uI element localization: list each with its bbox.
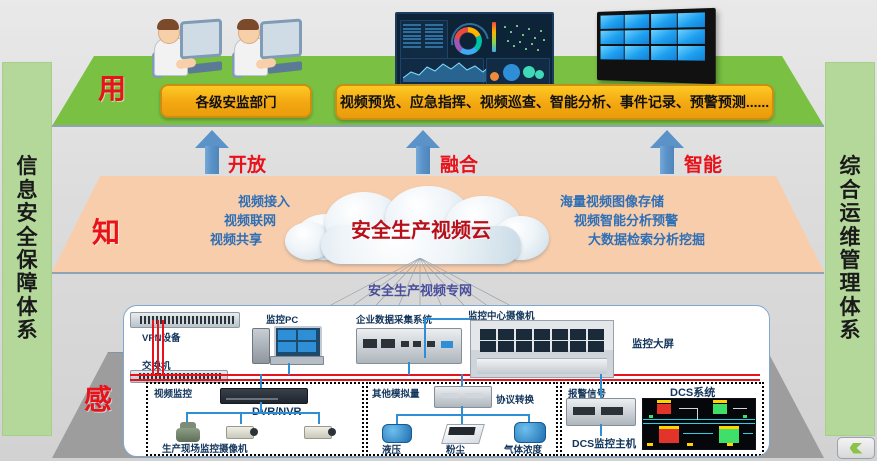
operator-workstation-icon bbox=[152, 16, 224, 78]
pc-tower-icon bbox=[252, 328, 270, 364]
dcs-host-label: DCS监控主机 bbox=[572, 436, 636, 451]
operator-workstation-icon bbox=[232, 16, 304, 78]
rail-char: 合 bbox=[840, 180, 861, 201]
link-line bbox=[260, 402, 262, 412]
rail-char: 信 bbox=[17, 156, 38, 177]
video-wall-image bbox=[592, 10, 714, 82]
uplink-line bbox=[152, 320, 154, 376]
box-camera-icon bbox=[226, 424, 258, 440]
link-line bbox=[240, 412, 242, 424]
link-line bbox=[461, 374, 463, 386]
arrow-label-open: 开放 bbox=[228, 150, 266, 177]
cloud-title: 安全生产视频云 bbox=[285, 214, 557, 243]
protocol-converter-icon bbox=[434, 386, 492, 408]
box-camera-icon bbox=[304, 424, 336, 440]
hydraulic-sensor-icon bbox=[382, 424, 412, 443]
capability-item: 视频智能分析预警 bbox=[560, 212, 770, 231]
left-rail-information-security: 信 息 安 全 保 障 体 系 bbox=[2, 62, 52, 436]
rail-char: 理 bbox=[840, 273, 861, 294]
link-line bbox=[186, 412, 320, 414]
up-arrow-icon bbox=[650, 130, 684, 174]
enterprise-collect-label: 企业数据采集系统 bbox=[356, 312, 432, 326]
control-room-screen-grid bbox=[480, 329, 605, 353]
layer-tag-knowledge: 知 bbox=[92, 211, 120, 251]
cloud-shape: 安全生产视频云 bbox=[285, 186, 557, 266]
dust-label: 粉尘 bbox=[446, 442, 465, 456]
diagram-canvas: 信 息 安 全 保 障 体 系 综 合 运 维 管 理 体 系 用 知 感 bbox=[0, 0, 877, 461]
video-wall-screen-grid bbox=[600, 12, 704, 60]
arrow-shaft bbox=[416, 146, 430, 174]
link-line bbox=[396, 414, 530, 416]
dcs-host-icon bbox=[566, 398, 636, 426]
arrow-label-fusion: 融合 bbox=[440, 150, 478, 177]
dust-sensor-icon bbox=[441, 424, 485, 444]
monitor-pc-label: 监控PC bbox=[266, 312, 298, 326]
rail-char: 综 bbox=[840, 156, 861, 177]
rail-char: 保 bbox=[17, 250, 38, 271]
ptz-dome bbox=[176, 428, 200, 442]
link-line bbox=[424, 318, 426, 358]
analytics-dashboard-image bbox=[395, 12, 554, 88]
gas-label: 气体浓度 bbox=[504, 442, 542, 456]
dashboard-heat-legend bbox=[492, 22, 496, 52]
application-layer-divider bbox=[52, 125, 824, 127]
link-line bbox=[408, 362, 410, 375]
arrow-shaft bbox=[205, 146, 219, 174]
site-cameras-label: 生产现场监控摄像机 bbox=[162, 441, 248, 455]
dashboard-table-rows bbox=[425, 24, 443, 49]
capability-item: 视频共享 bbox=[120, 231, 290, 250]
rail-char: 系 bbox=[840, 320, 861, 341]
dvr-nvr-icon bbox=[220, 388, 308, 404]
camera-lens bbox=[328, 428, 336, 436]
dashboard-donut-chart bbox=[454, 27, 482, 55]
uplink-line bbox=[157, 320, 159, 376]
desktop-monitor-icon bbox=[180, 19, 222, 60]
dcs-scada-screen bbox=[642, 398, 756, 450]
uplink-line bbox=[162, 320, 164, 376]
gas-sensor-icon bbox=[514, 422, 546, 443]
sensing-devices-panel: VPN设备 交换机 监控PC 企业数据采集系统 bbox=[123, 305, 770, 457]
green-play-glyph bbox=[850, 443, 863, 454]
link-line bbox=[600, 424, 602, 436]
cloud-capabilities-right: 海量视频图像存储 视频智能分析预警 大数据检索分析挖掘 bbox=[560, 193, 770, 250]
right-rail-operations-management: 综 合 运 维 管 理 体 系 bbox=[825, 62, 875, 436]
video-wall-frame bbox=[597, 8, 716, 84]
capability-item: 海量视频图像存储 bbox=[560, 193, 770, 212]
control-room-image bbox=[470, 320, 614, 378]
dept-box[interactable]: 各级安监部门 bbox=[160, 84, 312, 118]
arrow-label-intelligent: 智能 bbox=[684, 150, 722, 177]
camera-lens bbox=[250, 428, 258, 436]
data-collection-server-icon bbox=[356, 328, 462, 364]
ptz-camera-icon bbox=[176, 422, 200, 442]
hydraulic-label: 液压 bbox=[382, 442, 401, 456]
rail-char: 全 bbox=[17, 227, 38, 248]
bubble-node bbox=[503, 64, 520, 81]
vpn-device-icon bbox=[130, 312, 240, 328]
layer-tag-application: 用 bbox=[98, 67, 126, 107]
rail-char: 体 bbox=[17, 297, 38, 318]
capability-item: 视频接入 bbox=[120, 193, 290, 212]
rail-char: 体 bbox=[840, 297, 861, 318]
private-network-label: 安全生产视频专网 bbox=[300, 280, 540, 299]
link-line bbox=[260, 374, 262, 388]
arrow-shaft bbox=[660, 146, 674, 174]
bubble-node bbox=[535, 70, 544, 79]
media-player-icon[interactable] bbox=[837, 437, 875, 459]
red-bus-line bbox=[130, 379, 760, 381]
rail-char: 息 bbox=[17, 180, 38, 201]
up-arrow-icon bbox=[406, 130, 440, 174]
cloud-capabilities-left: 视频接入 视频联网 视频共享 bbox=[120, 193, 290, 250]
protocol-convert-label: 协议转换 bbox=[496, 392, 534, 406]
control-room-desk bbox=[477, 358, 608, 374]
link-line bbox=[318, 412, 320, 424]
desktop-monitor-icon bbox=[260, 19, 302, 60]
rail-char: 障 bbox=[17, 273, 38, 294]
red-bus-line bbox=[130, 374, 760, 376]
bubble-node bbox=[523, 66, 535, 78]
other-analog-label: 其他模拟量 bbox=[372, 386, 420, 400]
up-arrow-icon bbox=[195, 130, 229, 174]
rail-char: 运 bbox=[840, 203, 861, 224]
dashboard-scatter-plot bbox=[501, 22, 547, 54]
pc-keyboard-icon bbox=[270, 356, 324, 365]
capability-item: 大数据检索分析挖掘 bbox=[560, 231, 770, 250]
person-hair-icon bbox=[237, 19, 259, 30]
layer-tag-sensing: 感 bbox=[84, 378, 112, 418]
link-line bbox=[600, 374, 602, 398]
big-screen-label: 监控大屏 bbox=[632, 336, 674, 351]
rail-char: 系 bbox=[17, 320, 38, 341]
video-surveillance-label: 视频监控 bbox=[154, 386, 192, 400]
rail-char: 维 bbox=[840, 227, 861, 248]
functions-box[interactable]: 视频预览、应急指挥、视频巡查、智能分析、事件记录、预警预测...... bbox=[335, 84, 774, 120]
rail-char: 管 bbox=[840, 250, 861, 271]
person-hair-icon bbox=[157, 19, 179, 30]
bubble-node bbox=[490, 72, 499, 81]
link-line bbox=[288, 363, 290, 375]
link-line bbox=[424, 318, 470, 320]
dashboard-table-rows bbox=[403, 24, 421, 49]
capability-item: 视频联网 bbox=[120, 212, 290, 231]
pc-display-icon bbox=[274, 326, 322, 358]
rail-char: 安 bbox=[17, 203, 38, 224]
